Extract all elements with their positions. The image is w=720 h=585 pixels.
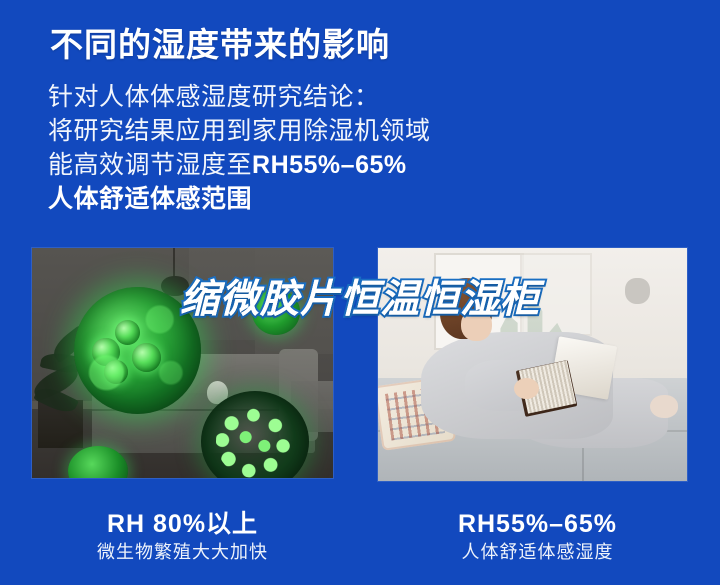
subtitle-line-3: 能高效调节湿度至RH55%–65% bbox=[48, 148, 498, 182]
person-face bbox=[461, 309, 492, 342]
microbe-sphere-small bbox=[252, 289, 300, 335]
microbe-cell bbox=[104, 360, 128, 384]
person-foot bbox=[650, 395, 678, 418]
caption-primary: RH55%–65% bbox=[410, 509, 665, 539]
wall-knob bbox=[625, 278, 650, 304]
caption-secondary: 人体舒适体感湿度 bbox=[410, 539, 665, 565]
page-title: 不同的湿度带来的影响 bbox=[50, 18, 390, 66]
caption-comfort-humidity: RH55%–65% 人体舒适体感湿度 bbox=[410, 509, 665, 565]
subtitle-line-3-prefix: 能高效调节湿度至 bbox=[48, 151, 252, 179]
caption-high-humidity: RH 80%以上 微生物繁殖大大加快 bbox=[55, 509, 310, 565]
photo-high-humidity bbox=[32, 248, 333, 478]
humidity-range-highlight: RH55%–65% bbox=[252, 151, 407, 179]
subtitle-line-4: 人体舒适体感范围 bbox=[48, 182, 498, 216]
microbe-cell bbox=[92, 338, 120, 366]
microbe-cell bbox=[132, 343, 161, 372]
microbe-sphere-large bbox=[74, 287, 200, 414]
subtitle-line-1: 针对人体体感湿度研究结论： bbox=[48, 80, 498, 114]
poster-root: 不同的湿度带来的影响 针对人体体感湿度研究结论： 将研究结果应用到家用除湿机领域… bbox=[0, 0, 720, 585]
caption-secondary: 微生物繁殖大大加快 bbox=[55, 539, 310, 565]
photo-comfort-humidity bbox=[378, 248, 687, 481]
subtitle-block: 针对人体体感湿度研究结论： 将研究结果应用到家用除湿机领域 能高效调节湿度至RH… bbox=[48, 80, 498, 216]
caption-primary: RH 80%以上 bbox=[55, 509, 310, 539]
subtitle-line-2: 将研究结果应用到家用除湿机领域 bbox=[48, 114, 498, 148]
microbe-cell bbox=[115, 320, 140, 345]
wall-panel-left bbox=[189, 248, 255, 340]
